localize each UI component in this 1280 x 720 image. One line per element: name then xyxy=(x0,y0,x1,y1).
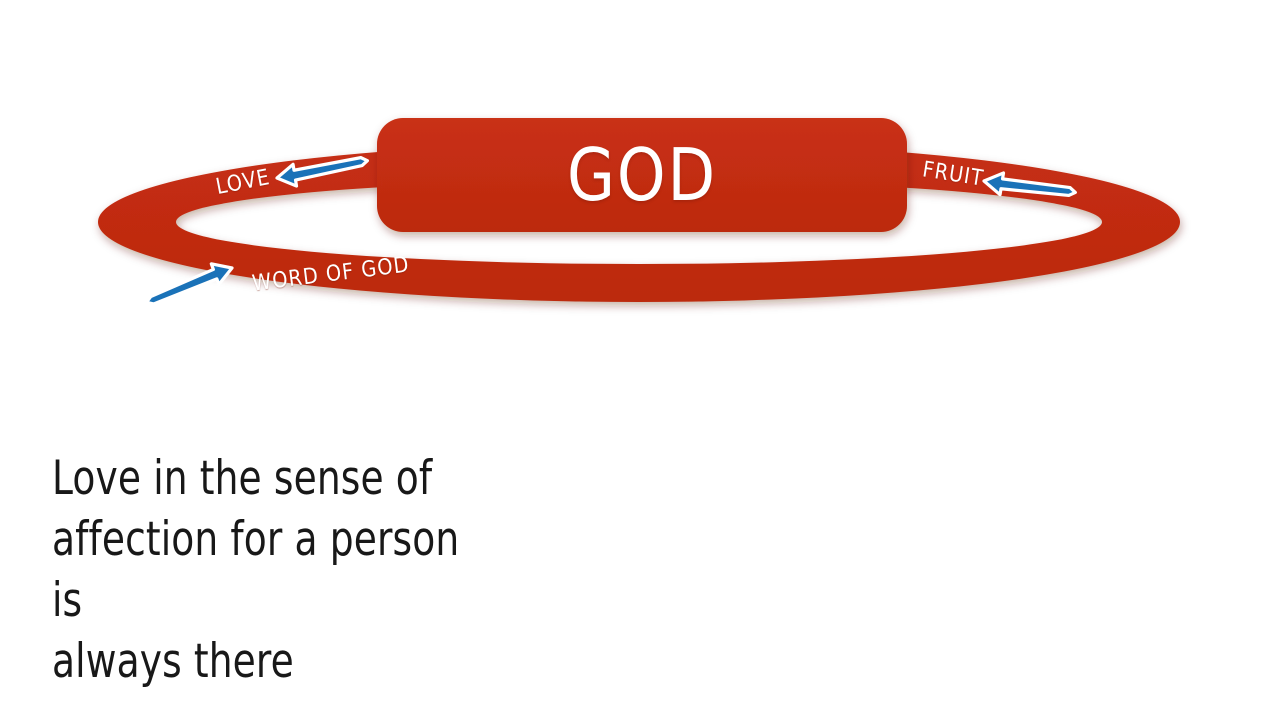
slide-caption: Love in the sense of affection for a per… xyxy=(52,448,500,692)
god-box-label: GOD xyxy=(414,118,870,232)
cycle-diagram: LOVE FRUIT WORD OF GOD GOD xyxy=(0,0,1280,430)
slide-canvas: LOVE FRUIT WORD OF GOD GOD Love in the s… xyxy=(0,0,1280,720)
